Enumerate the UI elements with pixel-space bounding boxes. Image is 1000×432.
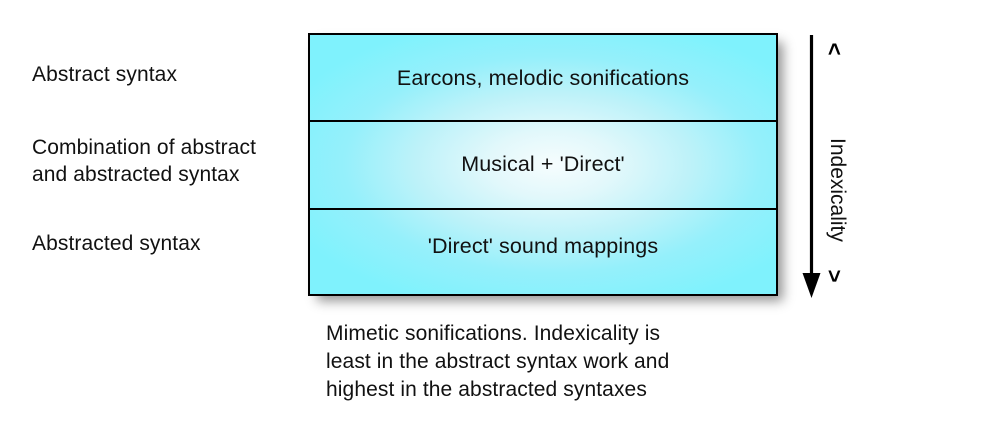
stack-row-musical-direct: Musical + 'Direct' [310,120,776,208]
row-label-combination-of-abstract-and-abstracted-syntax: Combination of abstract and abstracted s… [32,134,256,188]
axis-marker-low: < [823,38,845,60]
sonification-stack-box: Earcons, melodic sonifications Musical +… [308,33,778,296]
axis-label-indexicality: Indexicality [826,138,848,160]
diagram-caption: Mimetic sonifications. Indexicality is l… [326,320,756,404]
indexicality-axis: < Indexicality > [795,30,875,305]
stack-row-label: Earcons, melodic sonifications [397,65,689,91]
stack-row-label: Musical + 'Direct' [461,151,625,177]
row-label-abstracted-syntax: Abstracted syntax [32,230,201,257]
axis-marker-high: > [823,265,845,287]
row-label-abstract-syntax: Abstract syntax [32,61,177,88]
stack-row-earcons: Earcons, melodic sonifications [310,35,776,120]
stack-row-label: 'Direct' sound mappings [428,233,658,259]
diagram-canvas: Abstract syntax Combination of abstract … [0,0,1000,432]
stack-row-direct-sound-mappings: 'Direct' sound mappings [310,208,776,294]
